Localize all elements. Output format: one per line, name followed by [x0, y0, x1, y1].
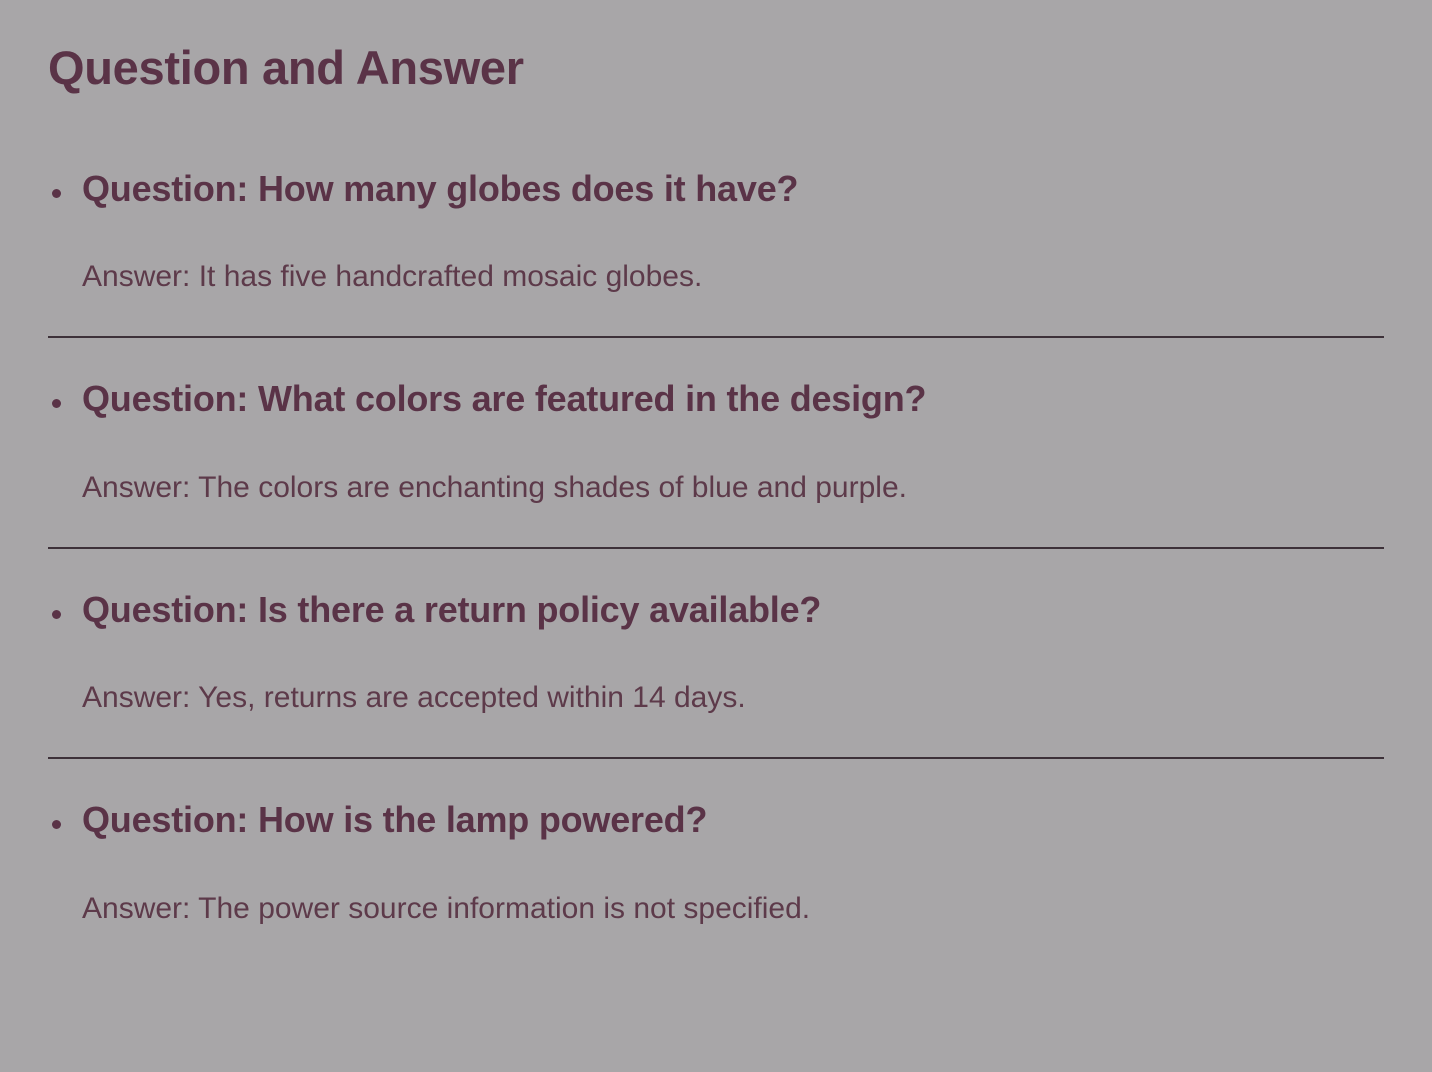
bullet-dot-icon — [52, 399, 61, 408]
qa-divider — [48, 336, 1384, 338]
bullet-dot-icon — [52, 189, 61, 198]
qa-question: Question: How many globes does it have? — [82, 168, 1384, 210]
qa-item: Question: What colors are featured in th… — [48, 378, 1384, 548]
page-title: Question and Answer — [48, 42, 524, 95]
qa-answer: Answer: Yes, returns are accepted within… — [82, 680, 1384, 716]
qa-question: Question: Is there a return policy avail… — [82, 589, 1384, 631]
qa-question: Question: How is the lamp powered? — [82, 799, 1384, 841]
qa-answer: Answer: It has five handcrafted mosaic g… — [82, 259, 1384, 295]
qa-item: Question: How many globes does it have? … — [48, 168, 1384, 338]
qa-divider — [48, 757, 1384, 759]
qa-list: Question: How many globes does it have? … — [48, 168, 1384, 927]
qa-page: Question and Answer Question: How many g… — [0, 0, 1432, 1072]
qa-question: Question: What colors are featured in th… — [82, 378, 1384, 420]
qa-divider — [48, 547, 1384, 549]
qa-item: Question: How is the lamp powered? Answe… — [48, 799, 1384, 926]
qa-answer: Answer: The colors are enchanting shades… — [82, 470, 1384, 506]
qa-answer: Answer: The power source information is … — [82, 891, 1384, 927]
qa-item: Question: Is there a return policy avail… — [48, 589, 1384, 759]
bullet-dot-icon — [52, 820, 61, 829]
bullet-dot-icon — [52, 610, 61, 619]
